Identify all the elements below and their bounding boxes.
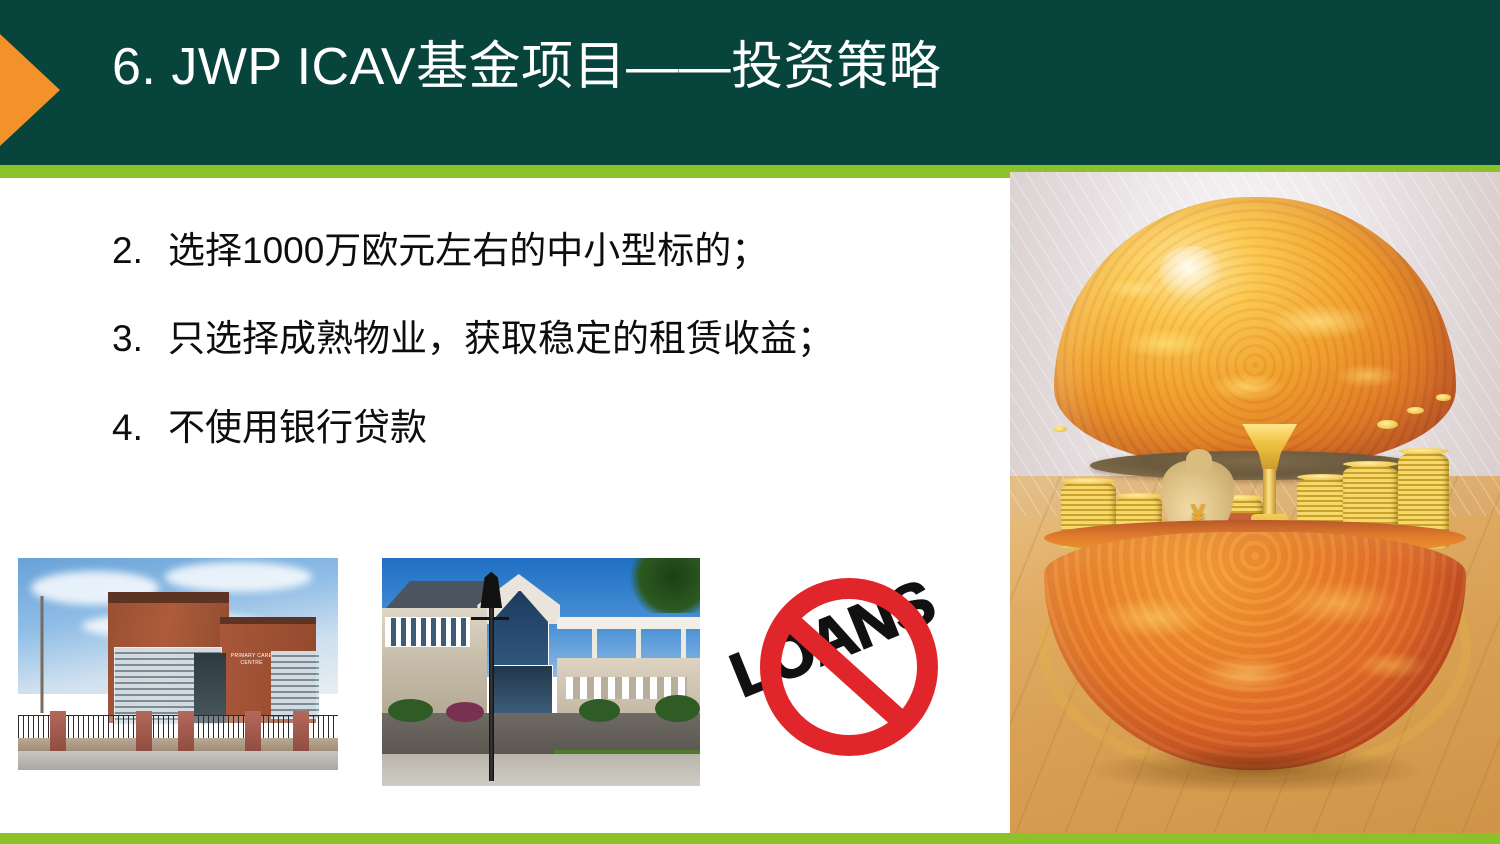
list-item-number: 4. xyxy=(112,405,168,451)
walkway-canopy xyxy=(557,617,700,628)
shrub xyxy=(388,699,433,722)
bullet-list: 2. 选择1000万欧元左右的中小型标的； 3. 只选择成熟物业，获取稳定的租赁… xyxy=(112,228,952,493)
trophy-stem xyxy=(1263,469,1276,516)
floating-coin xyxy=(1436,394,1451,400)
list-item: 4. 不使用银行贷款 xyxy=(112,405,952,451)
presentation-slide: 6. JWP ICAV基金项目——投资策略 2. 选择1000万欧元左右的中小型… xyxy=(0,0,1500,844)
chevron-right-icon xyxy=(0,34,60,146)
shrub xyxy=(655,695,700,722)
slide-footer-band xyxy=(0,833,1500,844)
tree-canopy xyxy=(624,558,700,613)
list-item-text: 只选择成熟物业，获取稳定的租赁收益； xyxy=(168,316,952,362)
contact-shadow xyxy=(1088,747,1421,793)
list-item-number: 2. xyxy=(112,228,168,274)
list-item: 2. 选择1000万欧元左右的中小型标的； xyxy=(112,228,952,274)
bare-tree xyxy=(28,596,57,713)
footpath xyxy=(382,754,700,786)
building-signage: PRIMARY CARE CENTRE xyxy=(223,653,281,666)
gate-pier xyxy=(293,711,309,753)
building-entrance xyxy=(194,653,226,723)
gate-pier xyxy=(50,711,66,753)
upper-windows xyxy=(385,617,470,646)
shrub xyxy=(446,702,484,723)
photo-stone-building xyxy=(382,558,700,786)
gate-pier xyxy=(178,711,194,753)
no-loans-sign: LOANS xyxy=(742,572,992,768)
gate-pier xyxy=(136,711,152,753)
pavement xyxy=(18,751,338,770)
list-item: 3. 只选择成熟物业，获取稳定的租赁收益； xyxy=(112,316,952,362)
photo-brick-primary-care-centre: PRIMARY CARE CENTRE xyxy=(18,558,338,770)
gate-pier xyxy=(245,711,261,753)
list-item-text: 不使用银行贷款 xyxy=(168,405,952,451)
list-item-number: 3. xyxy=(112,316,168,362)
photo-golden-egg-treasure: ¥ xyxy=(1010,172,1500,833)
trophy-cup xyxy=(1242,424,1297,471)
cloud xyxy=(165,562,312,592)
page-title: 6. JWP ICAV基金项目——投资策略 xyxy=(112,38,1212,98)
slide-header-band: 6. JWP ICAV基金项目——投资策略 xyxy=(0,0,1500,165)
lamp-post xyxy=(489,581,494,782)
list-item-text: 选择1000万欧元左右的中小型标的； xyxy=(168,228,952,274)
money-bag-tie xyxy=(1186,449,1212,470)
specular-highlight xyxy=(1159,246,1223,300)
